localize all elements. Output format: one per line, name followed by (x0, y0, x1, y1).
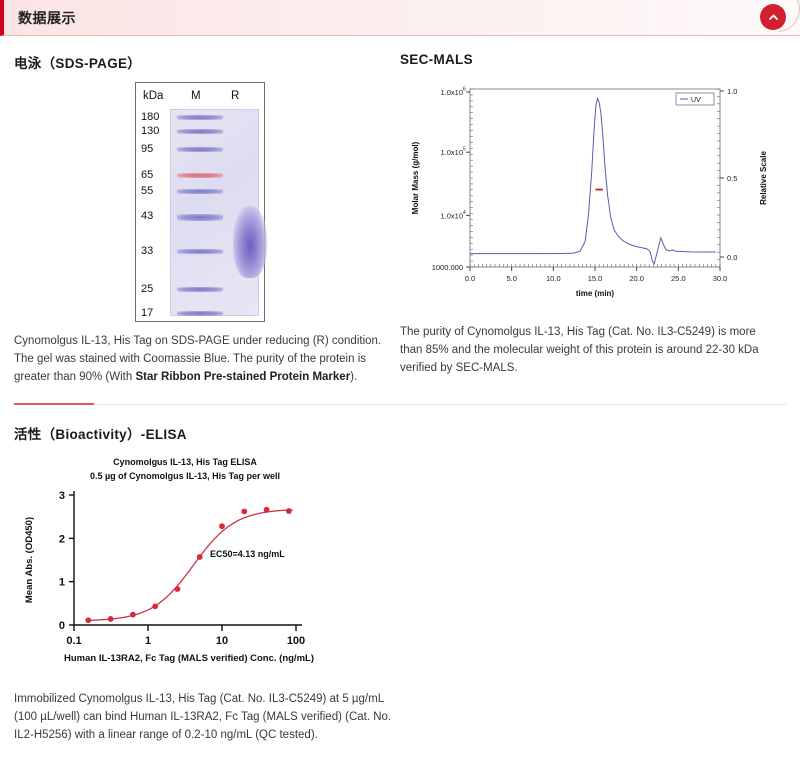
svg-text:10.0: 10.0 (546, 274, 561, 283)
sdspage-caption-line-3-pre: greater than 90% (With (14, 371, 135, 383)
svg-text:0.0: 0.0 (465, 274, 475, 283)
bioactivity-caption-line-1: Immobilized Cynomolgus IL-13, His Tag (C… (14, 690, 786, 708)
svg-text:100: 100 (287, 635, 305, 647)
elisa-data-point (152, 603, 158, 609)
elisa-data-point (219, 523, 225, 529)
svg-text:3: 3 (59, 490, 65, 502)
panel-content: 电泳（SDS-PAGE） kDa M R 1801309565554333251… (0, 36, 800, 744)
secmals-title: SEC-MALS (400, 52, 786, 67)
sdspage-caption-line-1: Cynomolgus IL-13, His Tag on SDS-PAGE un… (14, 332, 386, 350)
sec-mals-chart: 1.0x1061.0x1051.0x1041000.0001.00.50.00.… (400, 77, 786, 309)
elisa-data-point (175, 586, 181, 592)
gel-ladder-label: 55 (141, 186, 153, 197)
sdspage-caption-line-3-post: ). (350, 371, 357, 383)
elisa-data-point (85, 617, 91, 623)
panel-header: 数据展示 (0, 0, 800, 36)
chevron-up-icon (767, 11, 780, 24)
gel-ladder-band (177, 287, 223, 292)
gel-ladder-band (177, 173, 223, 178)
bioactivity-caption: Immobilized Cynomolgus IL-13, His Tag (C… (14, 690, 786, 744)
svg-text:0.5 µg of Cynomolgus IL-13, Hi: 0.5 µg of Cynomolgus IL-13, His Tag per … (90, 471, 280, 481)
svg-text:1.0x10: 1.0x10 (440, 148, 463, 157)
elisa-data-point (286, 508, 292, 514)
svg-text:Mean Abs. (OD450): Mean Abs. (OD450) (24, 517, 35, 603)
svg-text:Molar Mass (g/mol): Molar Mass (g/mol) (411, 141, 420, 214)
svg-text:1.0x10: 1.0x10 (440, 211, 463, 220)
gel-ladder-band (177, 189, 223, 194)
svg-text:1.0: 1.0 (727, 87, 737, 96)
svg-text:30.0: 30.0 (713, 274, 728, 283)
svg-text:4: 4 (463, 210, 466, 216)
svg-text:20.0: 20.0 (629, 274, 644, 283)
sec-mals-legend: UV (676, 93, 714, 105)
gel-ladder-band (177, 311, 223, 316)
gel-ladder-band (177, 115, 223, 120)
svg-text:Human IL-13RA2, Fc Tag (MALS v: Human IL-13RA2, Fc Tag (MALS verified) C… (64, 653, 314, 664)
secmals-caption-line-1: The purity of Cynomolgus IL-13, His Tag … (400, 323, 786, 341)
bioactivity-caption-line-2: (100 µL/well) can bind Human IL-13RA2, F… (14, 708, 786, 726)
gel-ladder-label: 25 (141, 284, 153, 295)
svg-text:1: 1 (59, 577, 65, 589)
elisa-data-point (130, 612, 136, 618)
svg-text:2: 2 (59, 533, 65, 545)
sdspage-section: 电泳（SDS-PAGE） kDa M R 1801309565554333251… (14, 36, 400, 386)
protein-marker-link[interactable]: Star Ribbon Pre-stained Protein Marker (135, 371, 350, 383)
svg-text:6: 6 (463, 87, 466, 93)
gel-header-reduced: R (231, 90, 239, 102)
secmals-section: SEC-MALS 1.0x1061.0x1051.0x1041000.0001.… (400, 36, 786, 386)
svg-text:UV: UV (691, 97, 701, 104)
svg-text:0: 0 (59, 620, 65, 632)
gel-ladder-label: 180 (141, 112, 159, 123)
sdspage-caption-line-3: greater than 90% (With Star Ribbon Pre-s… (14, 368, 386, 386)
gel-ladder-label: 17 (141, 308, 153, 319)
gel-header-kda: kDa (143, 90, 163, 102)
gel-ladder-band (177, 249, 223, 254)
sdspage-caption-line-2: The gel was stained with Coomassie Blue.… (14, 350, 386, 368)
gel-ladder-label: 33 (141, 246, 153, 257)
svg-text:1.0x10: 1.0x10 (440, 88, 463, 97)
svg-text:0.1: 0.1 (66, 635, 81, 647)
page-title: 数据展示 (18, 8, 76, 28)
bioactivity-section: 活性（Bioactivity）-ELISA Cynomolgus IL-13, … (14, 423, 786, 744)
gel-ladder-label: 43 (141, 211, 153, 222)
bioactivity-title: 活性（Bioactivity）-ELISA (14, 423, 786, 443)
svg-text:1000.000: 1000.000 (432, 263, 463, 272)
elisa-data-point (197, 554, 203, 560)
gel-ladder-label: 65 (141, 170, 153, 181)
bioactivity-caption-line-3: IL2-H5256) with a linear range of 0.2-10… (14, 726, 786, 744)
svg-text:5: 5 (463, 147, 466, 153)
svg-text:Relative Scale: Relative Scale (759, 151, 768, 205)
secmals-caption-line-3: verified by SEC-MALS. (400, 359, 786, 377)
gel-sample-band (233, 206, 267, 278)
elisa-data-point (241, 509, 247, 515)
sec-mals-plot: 1.0x1061.0x1051.0x1041000.0001.00.50.00.… (400, 77, 786, 309)
gel-ladder-band (177, 214, 223, 221)
gel-header-marker: M (191, 90, 201, 102)
elisa-chart: Cynomolgus IL-13, His Tag ELISA0.5 µg of… (14, 453, 786, 668)
gel-ladder-label: 95 (141, 144, 153, 155)
secmals-caption: The purity of Cynomolgus IL-13, His Tag … (400, 323, 786, 377)
sdspage-title: 电泳（SDS-PAGE） (14, 52, 386, 72)
gel-ladder-labels: 18013095655543332517 (141, 109, 171, 316)
svg-text:10: 10 (216, 635, 228, 647)
gel-image-wrapper: kDa M R 18013095655543332517 (14, 82, 386, 322)
top-row: 电泳（SDS-PAGE） kDa M R 1801309565554333251… (14, 36, 786, 386)
gel-lane-headers: kDa M R (136, 83, 264, 109)
svg-text:25.0: 25.0 (671, 274, 686, 283)
svg-text:time (min): time (min) (576, 289, 615, 298)
elisa-data-point (108, 616, 114, 622)
svg-text:15.0: 15.0 (588, 274, 603, 283)
sdspage-caption: Cynomolgus IL-13, His Tag on SDS-PAGE un… (14, 332, 386, 386)
svg-text:0.0: 0.0 (727, 253, 737, 262)
svg-text:0.5: 0.5 (727, 174, 737, 183)
svg-text:5.0: 5.0 (506, 274, 516, 283)
gel-ladder-band (177, 129, 223, 134)
svg-text:Cynomolgus IL-13, His Tag ELIS: Cynomolgus IL-13, His Tag ELISA (113, 457, 257, 467)
gel-ladder-label: 130 (141, 126, 159, 137)
gel-ladder-band (177, 147, 223, 152)
elisa-data-point (264, 507, 270, 513)
elisa-ec50-annotation: EC50=4.13 ng/mL (210, 549, 285, 559)
sds-page-gel: kDa M R 18013095655543332517 (135, 82, 265, 322)
svg-text:1: 1 (145, 635, 151, 647)
secmals-caption-line-2: than 85% and the molecular weight of thi… (400, 341, 786, 359)
elisa-plot: Cynomolgus IL-13, His Tag ELISA0.5 µg of… (14, 453, 374, 668)
section-divider (14, 404, 786, 405)
gel-lanes-area (170, 109, 259, 316)
collapse-panel-button[interactable] (760, 4, 786, 30)
